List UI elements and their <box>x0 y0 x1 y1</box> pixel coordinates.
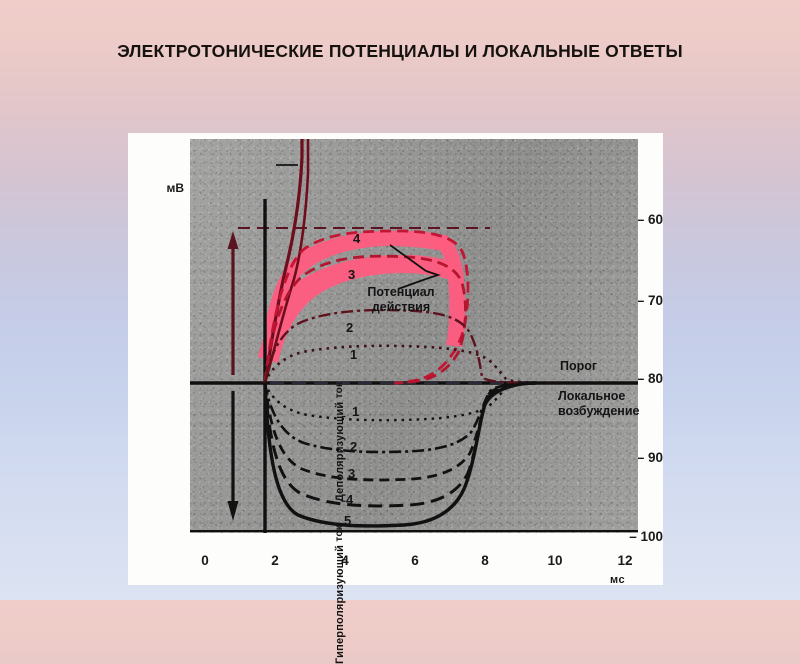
x-axis-unit-label: мс <box>610 574 625 586</box>
depolarizing-arrow-icon <box>228 231 239 375</box>
annotation-local-excitation-line1: Локальное <box>558 389 678 404</box>
x-tick-label: 2 <box>260 553 290 568</box>
x-tick-label: 12 <box>610 553 640 568</box>
curve-depolarizing-2 <box>265 310 534 383</box>
curve-label-depolarizing-2: 2 <box>346 320 353 335</box>
label-depolarizing-current-text: Деполяризующий <box>334 402 346 502</box>
annotation-action-potential-line2: действия <box>346 300 456 315</box>
x-tick-label: 6 <box>400 553 430 568</box>
annotation-threshold: Порог <box>560 359 597 374</box>
hyperpolarizing-arrow-icon <box>228 391 239 521</box>
label-hyperpolarizing-current-unit: ток <box>334 525 345 541</box>
label-depolarizing-current: Деполяризующий ток <box>334 374 346 502</box>
curve-label-hyperpolarizing-2: 2 <box>350 439 357 454</box>
slide: ЭЛЕКТРОТОНИЧЕСКИЕ ПОТЕНЦИАЛЫ И ЛОКАЛЬНЫЕ… <box>0 0 800 600</box>
annotation-action-potential-line1: Потенциал <box>346 285 456 300</box>
annotation-local-excitation-line2: возбуждение <box>558 404 678 419</box>
curve-label-hyperpolarizing-3: 3 <box>348 466 355 481</box>
annotation-local-excitation: Локальное возбуждение <box>558 389 678 420</box>
annotation-action-potential: Потенциал действия <box>346 285 456 315</box>
curve-label-depolarizing-1: 1 <box>350 347 357 362</box>
x-tick-label: 10 <box>540 553 570 568</box>
label-depolarizing-current-unit: ток <box>334 382 345 398</box>
x-tick-label: 0 <box>190 553 220 568</box>
label-hyperpolarizing-current: Гиперполяризующий ток <box>334 519 346 664</box>
page-title: ЭЛЕКТРОТОНИЧЕСКИЕ ПОТЕНЦИАЛЫ И ЛОКАЛЬНЫЕ… <box>0 41 800 62</box>
figure-card: мВ – 60 – 70 – 80 – 90 – 100 0 2 4 6 8 1… <box>128 133 663 585</box>
curve-depolarizing-1 <box>265 346 558 383</box>
curve-hyperpolarizing-3 <box>265 383 540 480</box>
curve-label-hyperpolarizing-4: 4 <box>346 492 353 507</box>
chart-svg <box>190 139 638 533</box>
label-hyperpolarizing-current-text: Гиперполяризующий <box>334 545 346 664</box>
curve-label-depolarizing-4: 4 <box>353 231 360 246</box>
curve-hyperpolarizing-1 <box>265 383 560 420</box>
y-axis-unit-label: мВ <box>128 181 184 195</box>
curve-label-hyperpolarizing-1: 1 <box>352 404 359 419</box>
plot-area: 4 3 2 1 1 2 3 4 5 <box>190 139 638 533</box>
curve-label-depolarizing-3: 3 <box>348 267 355 282</box>
x-tick-label: 8 <box>470 553 500 568</box>
